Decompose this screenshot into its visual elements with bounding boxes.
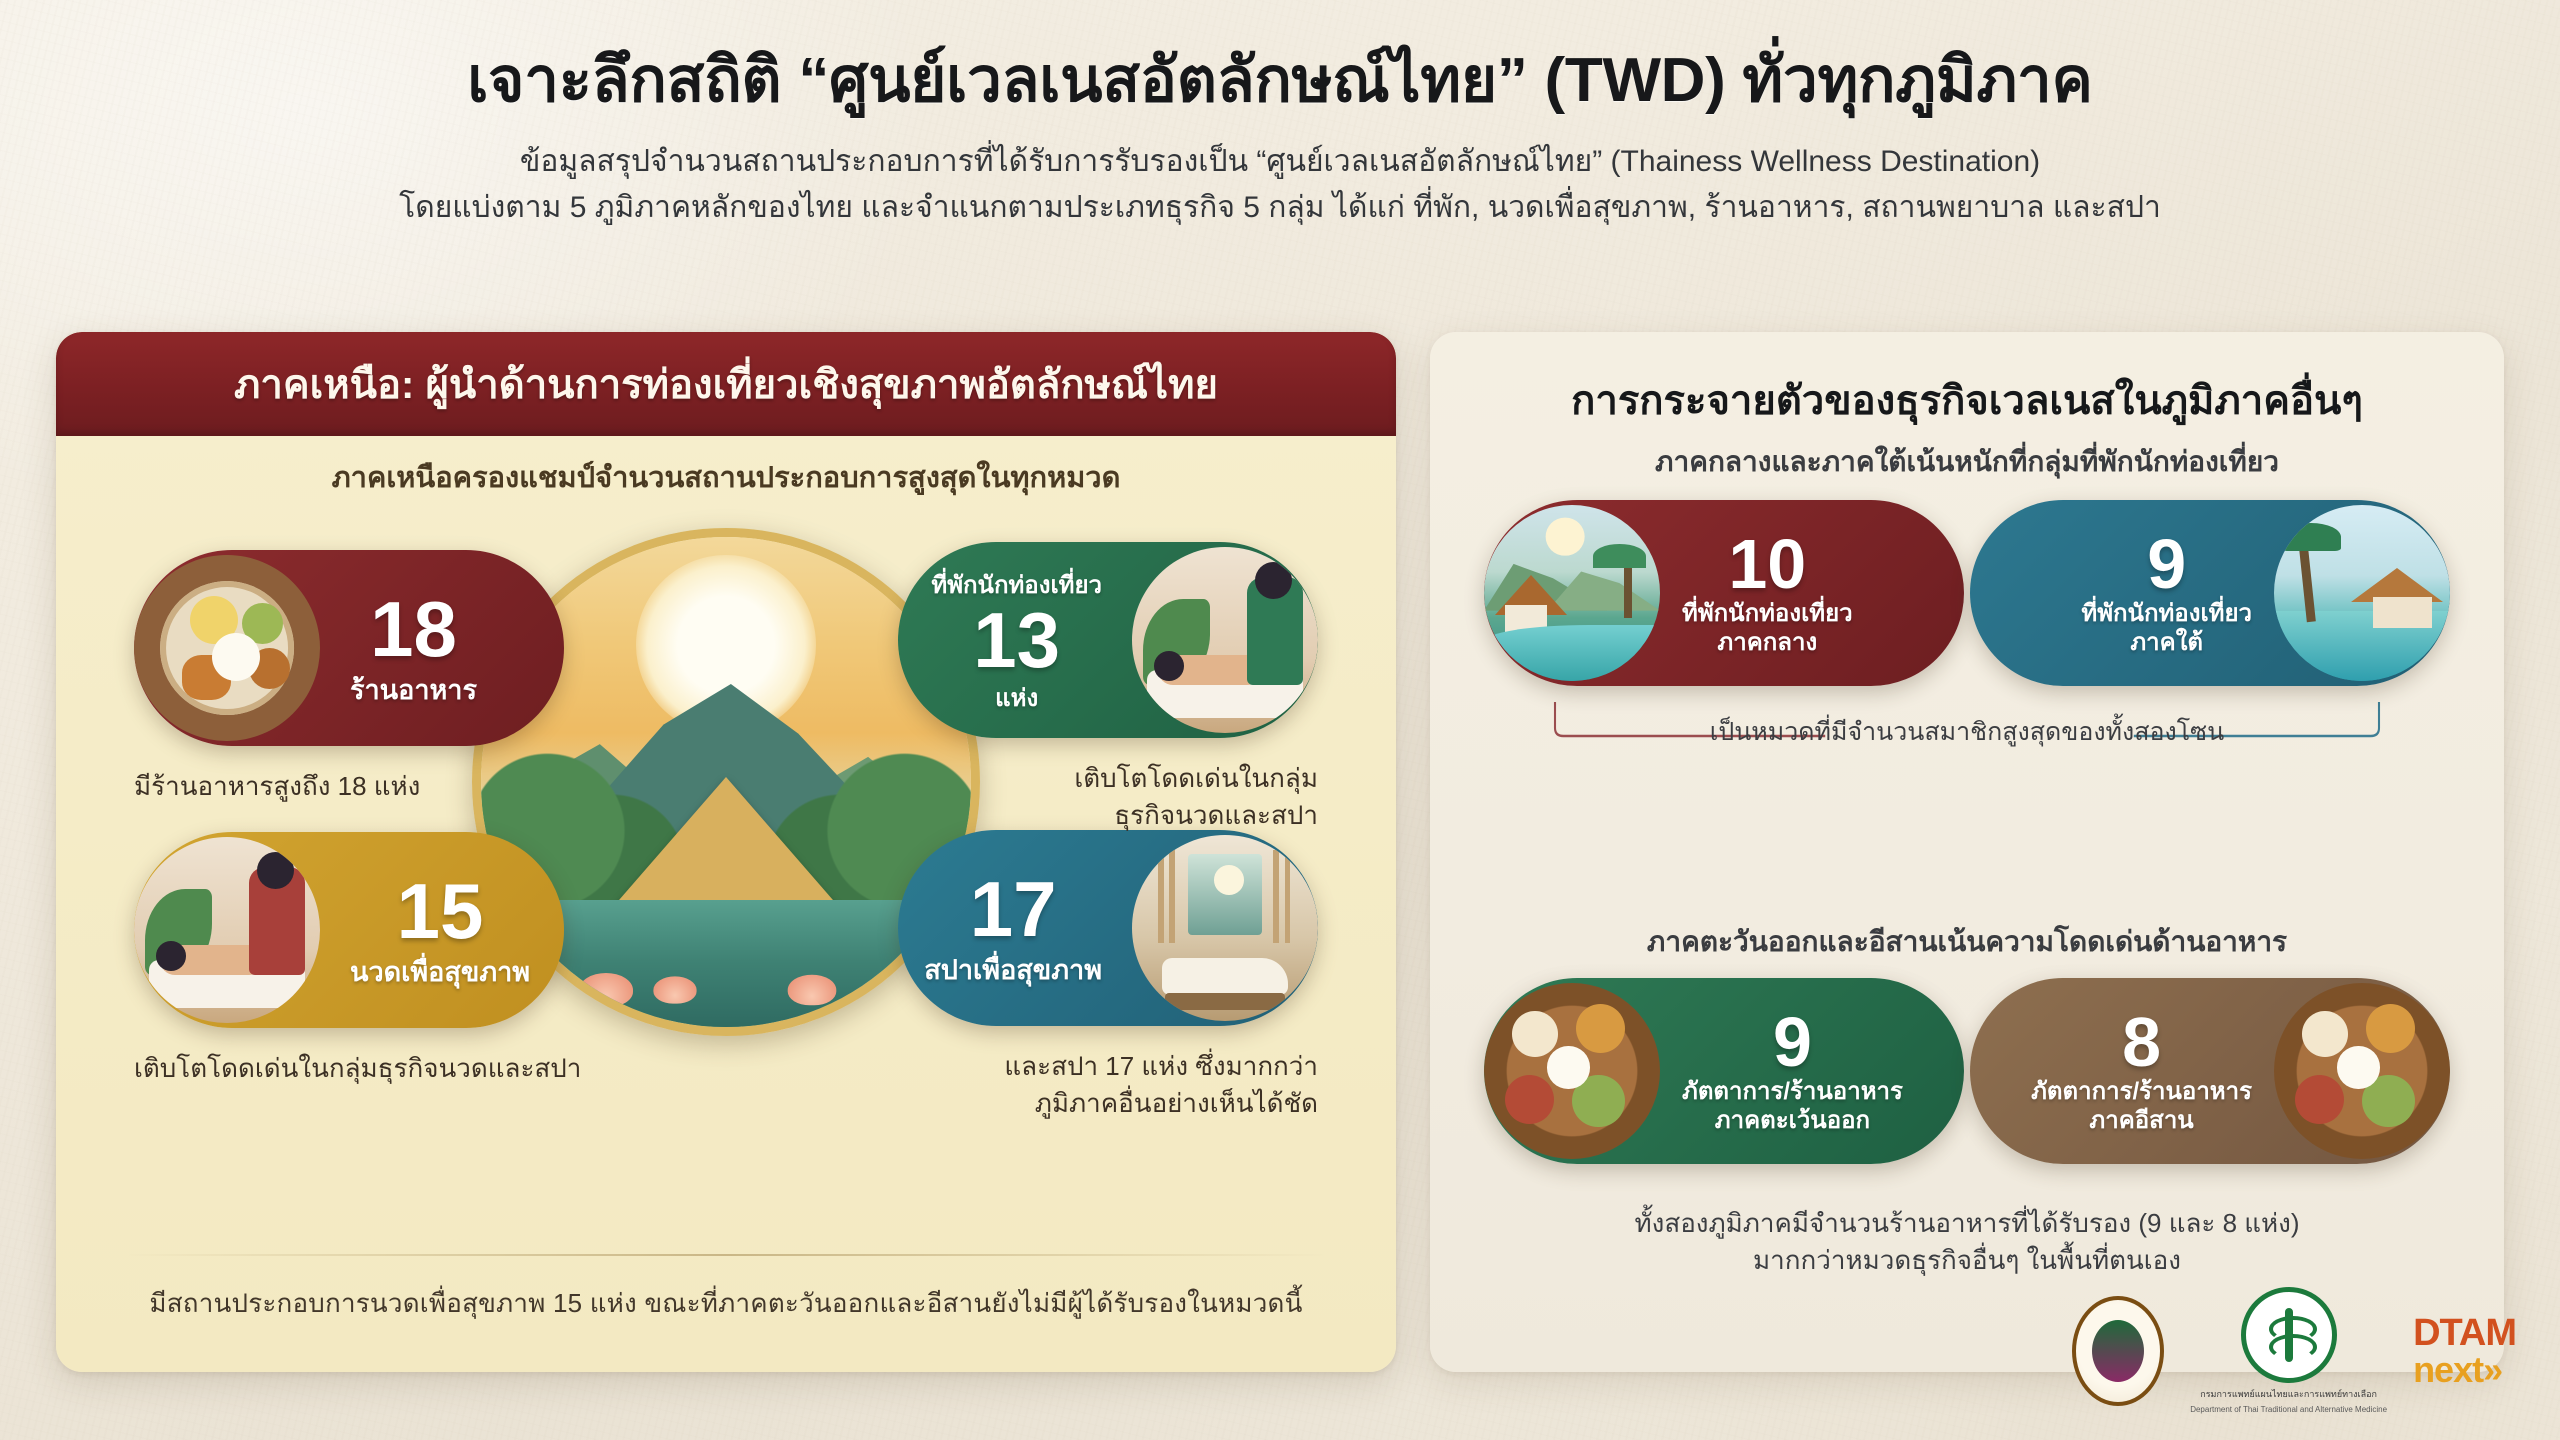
stat-card-restaurant[interactable]: 18 ร้านอาหาร (134, 550, 564, 746)
stat-card-isan-text: 8 ภัตตาการ/ร้านอาหาร ภาคอีสาน (2009, 1007, 2274, 1136)
north-panel-banner-label: ภาคเหนือ: ผู้นำด้านการท่องเที่ยวเชิงสุขภ… (234, 352, 1218, 416)
stat-card-central-accommodation[interactable]: 10 ที่พักนักท่องเที่ยว ภาคกลาง (1484, 500, 1964, 686)
right-panel-footnote-line-2: มากกว่าหมวดธุรกิจอื่นๆ ในพื้นที่ตนเอง (1480, 1242, 2454, 1280)
subtitle-line-1: ข้อมูลสรุปจำนวนสถานประกอบการที่ได้รับการ… (0, 139, 2560, 185)
stat-label-isan-region: ภาคอีสาน (2089, 1106, 2193, 1135)
stat-label-accommodation-unit: แห่ง (995, 685, 1038, 714)
logo-row: กรมการแพทย์แผนไทยและการแพทย์ทางเลือก Dep… (2072, 1287, 2516, 1414)
chevron-icon: » (2483, 1349, 2502, 1390)
stat-card-central-text: 10 ที่พักนักท่องเที่ยว ภาคกลาง (1660, 529, 1875, 658)
stat-card-restaurant-text: 18 ร้านอาหาร (320, 590, 507, 706)
north-region-panel: ภาคเหนือ: ผู้นำด้านการท่องเที่ยวเชิงสุขภ… (56, 332, 1396, 1372)
north-panel-subheading: ภาคเหนือครองแชมป์จำนวนสถานประกอบการสูงสุ… (56, 454, 1396, 500)
caduceus-icon (2241, 1287, 2337, 1383)
next-wordmark: next» (2413, 1352, 2516, 1388)
page-title: เจาะลึกสถิติ “ศูนย์เวลเนสอัตลักษณ์ไทย” (… (0, 44, 2560, 117)
subtitle-line-2: โดยแบ่งตาม 5 ภูมิภาคหลักของไทย และจำแนกต… (0, 185, 2560, 231)
other-regions-panel: การกระจายตัวของธุรกิจเวลเนสในภูมิภาคอื่น… (1430, 332, 2504, 1372)
stat-label-spa: สปาเพื่อสุขภาพ (924, 954, 1102, 986)
stat-label-restaurant: ร้านอาหาร (350, 674, 477, 706)
stat-label-massage: นวดเพื่อสุขภาพ (350, 956, 530, 988)
right-panel-footnote-line-1: ทั้งสองภูมิภาคมีจำนวนร้านอาหารที่ได้รับร… (1480, 1205, 2454, 1243)
other-regions-title: การกระจายตัวของธุรกิจเวลเนสในภูมิภาคอื่น… (1430, 368, 2504, 432)
dtam-next-logo: DTAM next» (2413, 1314, 2516, 1388)
stat-value-accommodation: 13 (973, 601, 1060, 679)
stat-card-east-restaurant[interactable]: 9 ภัตตาการ/ร้านอาหาร ภาคตะเว้นออก (1484, 978, 1964, 1164)
connector-label: เป็นหมวดที่มีจำนวนสมาชิกสูงสุดของทั้งสอง… (1430, 712, 2504, 752)
right-panel-footnote: ทั้งสองภูมิภาคมีจำนวนร้านอาหารที่ได้รับร… (1480, 1205, 2454, 1280)
massage-therapy-icon (1132, 547, 1318, 733)
panels-container: ภาคเหนือ: ผู้นำด้านการท่องเที่ยวเชิงสุขภ… (0, 332, 2560, 1372)
stat-label-isan-top: ภัตตาการ/ร้านอาหาร (2031, 1077, 2252, 1106)
food-plate-icon (134, 555, 320, 741)
stat-value-central: 10 (1728, 529, 1806, 599)
food-table-icon (2274, 983, 2450, 1159)
caption-spa: และสปา 17 แห่ง ซึ่งมากกว่า ภูมิภาคอื่นอย… (888, 1048, 1318, 1122)
stat-label-central-region: ภาคกลาง (1717, 628, 1817, 657)
stat-card-massage-text: 15 นวดเพื่อสุขภาพ (320, 872, 560, 988)
other-regions-subheading-top: ภาคกลางและภาคใต้เน้นหนักที่กลุ่มที่พักนั… (1430, 440, 2504, 484)
stat-value-isan: 8 (2122, 1007, 2161, 1077)
thai-royal-emblem-icon (2072, 1296, 2164, 1406)
stat-value-south: 9 (2147, 529, 2186, 599)
left-panel-divider (126, 1254, 1326, 1256)
resort-pool-icon (1484, 505, 1660, 681)
food-table-icon (1484, 983, 1660, 1159)
stat-card-spa-text: 17 สปาเพื่อสุขภาพ (898, 870, 1132, 986)
left-panel-footnote: มีสถานประกอบการนวดเพื่อสุขภาพ 15 แห่ง ขณ… (126, 1283, 1326, 1324)
stat-card-east-text: 9 ภัตตาการ/ร้านอาหาร ภาคตะเว้นออก (1660, 1007, 1925, 1136)
stat-value-spa: 17 (970, 870, 1057, 948)
header: เจาะลึกสถิติ “ศูนย์เวลเนสอัตลักษณ์ไทย” (… (0, 0, 2560, 230)
beach-villa-icon (2274, 505, 2450, 681)
dtam-wordmark: DTAM (2413, 1314, 2516, 1352)
stat-value-east: 9 (1773, 1007, 1812, 1077)
stat-card-spa[interactable]: 17 สปาเพื่อสุขภาพ (898, 830, 1318, 1026)
stat-card-isan-restaurant[interactable]: 8 ภัตตาการ/ร้านอาหาร ภาคอีสาน (1970, 978, 2450, 1164)
other-regions-subheading-bottom: ภาคตะวันออกและอีสานเน้นความโดดเด่นด้านอา… (1430, 920, 2504, 964)
stat-label-central-top: ที่พักนักท่องเที่ยว (1682, 599, 1853, 628)
stat-card-accommodation-text: ที่พักนักท่องเที่ยว 13 แห่ง (901, 566, 1132, 714)
moph-caption-en: Department of Thai Traditional and Alter… (2190, 1405, 2387, 1414)
stat-value-massage: 15 (397, 872, 484, 950)
stat-card-south-text: 9 ที่พักนักท่องเที่ยว ภาคใต้ (2059, 529, 2274, 658)
caption-restaurant: มีร้านอาหารสูงถึง 18 แห่ง (134, 768, 604, 805)
stat-card-massage[interactable]: 15 นวดเพื่อสุขภาพ (134, 832, 564, 1028)
stat-value-restaurant: 18 (370, 590, 457, 668)
moph-caption-th: กรมการแพทย์แผนไทยและการแพทย์ทางเลือก (2200, 1387, 2377, 1401)
caption-accommodation: เติบโตโดดเด่นในกลุ่ม ธุรกิจนวดและสปา (898, 760, 1318, 834)
stat-label-south-region: ภาคใต้ (2130, 628, 2203, 657)
ministry-of-public-health-logo: กรมการแพทย์แผนไทยและการแพทย์ทางเลือก Dep… (2190, 1287, 2387, 1414)
spa-room-icon (1132, 835, 1318, 1021)
stat-card-accommodation[interactable]: ที่พักนักท่องเที่ยว 13 แห่ง (898, 542, 1318, 738)
stat-card-south-accommodation[interactable]: 9 ที่พักนักท่องเที่ยว ภาคใต้ (1970, 500, 2450, 686)
stat-label-east-top: ภัตตาการ/ร้านอาหาร (1682, 1077, 1903, 1106)
infographic-page: เจาะลึกสถิติ “ศูนย์เวลเนสอัตลักษณ์ไทย” (… (0, 0, 2560, 1440)
north-panel-banner: ภาคเหนือ: ผู้นำด้านการท่องเที่ยวเชิงสุขภ… (56, 332, 1396, 436)
stat-label-south-top: ที่พักนักท่องเที่ยว (2081, 599, 2252, 628)
next-text: next (2413, 1349, 2483, 1390)
massage-therapy-icon (134, 837, 320, 1023)
caption-massage: เติบโตโดดเด่นในกลุ่มธุรกิจนวดและสปา (134, 1050, 604, 1087)
subtitle-block: ข้อมูลสรุปจำนวนสถานประกอบการที่ได้รับการ… (0, 139, 2560, 230)
stat-label-east-region: ภาคตะเว้นออก (1715, 1106, 1870, 1135)
